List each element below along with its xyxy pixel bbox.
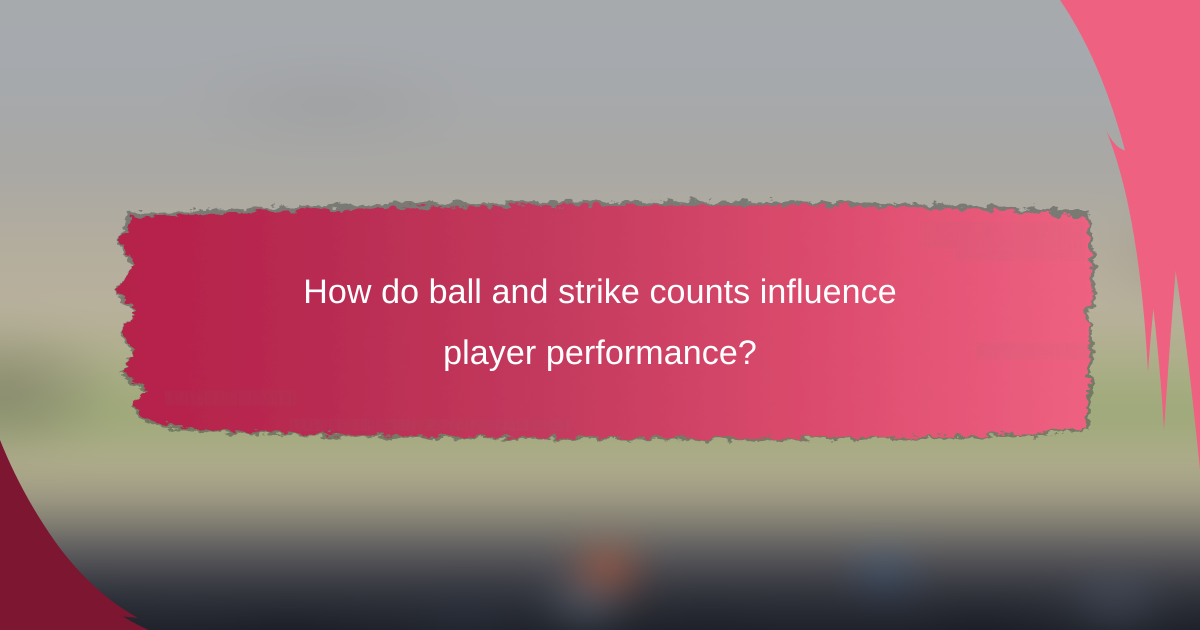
share-card: How do ball and strike counts influence … [0, 0, 1200, 630]
headline-line-1: How do ball and strike counts influence [160, 262, 1040, 323]
headline: How do ball and strike counts influence … [160, 262, 1040, 384]
headline-line-2: player performance? [160, 323, 1040, 384]
